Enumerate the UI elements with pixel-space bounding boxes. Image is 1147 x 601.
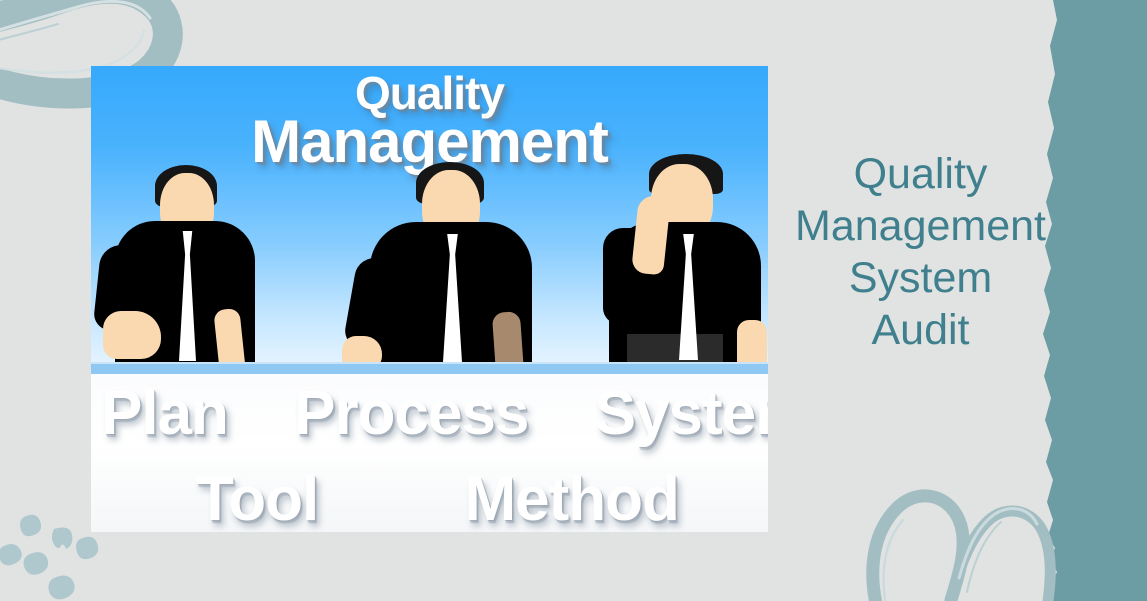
businessman-figure-left	[97, 159, 272, 374]
quality-management-image: Quality Management	[91, 66, 768, 532]
image-desk-edge	[91, 362, 768, 374]
image-keyword-row-2: Tool Method	[91, 464, 768, 532]
businessman-figure-right	[591, 156, 768, 374]
keyword-process: Process	[294, 378, 528, 449]
title-line-3: System	[778, 252, 1063, 304]
keyword-system: System	[595, 378, 768, 449]
title-line-2: Management	[778, 200, 1063, 252]
businessman-figure-center	[346, 162, 546, 374]
image-heading: Quality Management	[91, 72, 768, 170]
keyword-tool: Tool	[196, 464, 318, 532]
keyword-method: Method	[464, 464, 678, 532]
brush-swirl-bottom-right-icon	[855, 470, 1085, 601]
title-line-4: Audit	[778, 304, 1063, 356]
page-title: Quality Management System Audit	[778, 148, 1063, 356]
slide-canvas: Quality Management	[0, 0, 1147, 601]
image-keyword-row-1: Plan Process System	[91, 378, 768, 449]
title-line-1: Quality	[778, 148, 1063, 200]
figure-hand-hip	[103, 311, 161, 359]
keyword-plan: Plan	[101, 378, 228, 449]
